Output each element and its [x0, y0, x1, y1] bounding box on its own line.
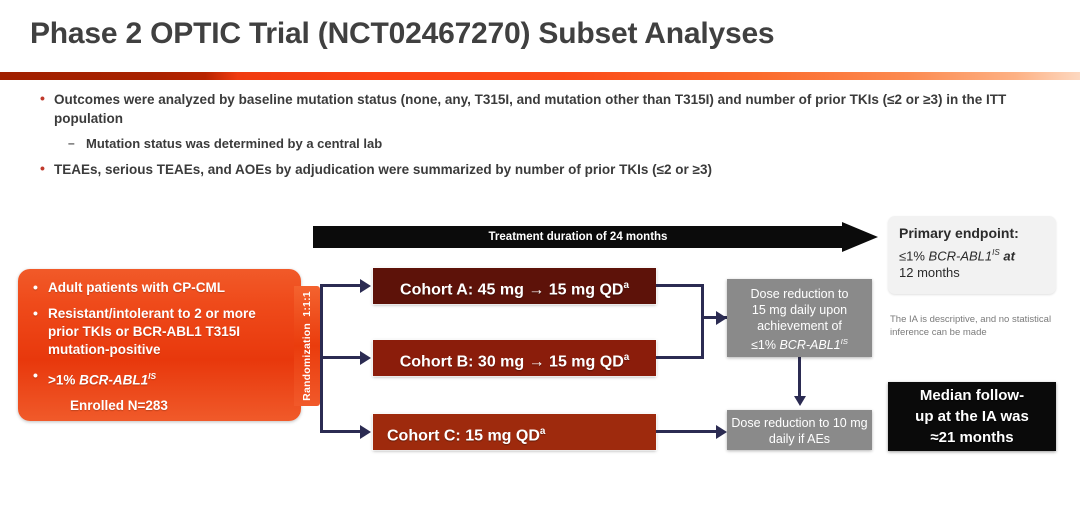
dose-reduction-c-box: Dose reduction to 10 mg daily if AEs [727, 410, 872, 450]
bullet-subitem: Mutation status was determined by a cent… [38, 134, 1038, 153]
connector-to-cohort-b [320, 356, 362, 359]
connector-to-cohort-c [320, 430, 362, 433]
bullet-item: Outcomes were analyzed by baseline mutat… [38, 90, 1038, 128]
biomarker-prefix: >1% [48, 373, 79, 388]
connector-cohort-c-out [656, 430, 720, 433]
dose-reduction-line-4: ≤1% BCR-ABL1IS [727, 334, 872, 353]
randomization-text: Randomization [301, 323, 313, 401]
patient-criterion-biomarker: >1% BCR-ABL1IS [30, 367, 289, 390]
arrowhead-dose-c-icon [716, 425, 727, 439]
connector-cohort-b-out [656, 356, 704, 359]
patient-criterion: Adult patients with CP-CML [30, 279, 289, 297]
dose-threshold-superscript: IS [841, 337, 848, 346]
enrolled-count: Enrolled N=283 [30, 398, 289, 413]
dose-threshold-gene: BCR-ABL1 [779, 338, 840, 352]
connector-dose-ab-to-dose-c [798, 357, 801, 399]
dose-threshold-prefix: ≤1% [751, 338, 779, 352]
cohort-c-box: Cohort C: 15 mg QDa [373, 414, 656, 450]
connector-trunk-vertical [320, 286, 323, 432]
dose-reduction-line-2: 15 mg daily upon [727, 302, 872, 318]
median-followup-line-3: ≈21 months [888, 427, 1056, 448]
arrowhead-cohort-c-icon [360, 425, 371, 439]
dose-reduction-ab-box: Dose reduction to 15 mg daily upon achie… [727, 279, 872, 357]
endpoint-superscript: IS [992, 248, 1000, 257]
arrowhead-cohort-a-icon [360, 279, 371, 293]
page-title: Phase 2 OPTIC Trial (NCT02467270) Subset… [30, 17, 774, 51]
endpoint-timepoint: 12 months [899, 265, 960, 280]
cohort-a-box: Cohort A: 45 mg → 15 mg QDa [373, 268, 656, 304]
primary-endpoint-body: ≤1% BCR-ABL1IS at 12 months [899, 244, 1045, 281]
arrowhead-dose-vertical-icon [794, 396, 806, 406]
arrowhead-cohort-b-icon [360, 351, 371, 365]
cohort-a-label: Cohort A: 45 mg → 15 mg QD [400, 281, 623, 298]
randomization-tab: Randomization 1:1:1 [294, 286, 320, 406]
dose-reduction-line-3: achievement of [727, 318, 872, 334]
connector-ab-merge-vertical [701, 284, 704, 359]
cohort-b-superscript: a [624, 352, 630, 363]
median-followup-line-1: Median follow- [888, 385, 1056, 406]
randomization-ratio: 1:1:1 [301, 291, 313, 317]
dose-reduction-line-1: Dose reduction to [727, 286, 872, 302]
arrowhead-dose-ab-icon [716, 311, 727, 325]
slide-canvas: Phase 2 OPTIC Trial (NCT02467270) Subset… [0, 0, 1080, 506]
patient-population-box: Adult patients with CP-CML Resistant/int… [18, 269, 301, 421]
bullet-list: Outcomes were analyzed by baseline mutat… [38, 90, 1038, 185]
endpoint-at: at [1000, 248, 1015, 263]
primary-endpoint-panel: Primary endpoint: ≤1% BCR-ABL1IS at 12 m… [888, 216, 1056, 294]
connector-cohort-a-out [656, 284, 704, 287]
ia-descriptive-note: The IA is descriptive, and no statistica… [890, 313, 1068, 339]
primary-endpoint-title: Primary endpoint: [899, 225, 1045, 241]
duration-arrow-head-icon [842, 222, 878, 252]
duration-arrow-label: Treatment duration of 24 months [313, 226, 843, 248]
bullet-item: TEAEs, serious TEAEs, and AOEs by adjudi… [38, 160, 1038, 179]
endpoint-prefix: ≤1% [899, 248, 929, 263]
cohort-c-label: Cohort C: 15 mg QD [387, 427, 540, 444]
biomarker-superscript: IS [148, 371, 156, 381]
median-followup-box: Median follow- up at the IA was ≈21 mont… [888, 382, 1056, 451]
cohort-a-superscript: a [623, 280, 629, 291]
biomarker-gene: BCR-ABL1 [79, 373, 148, 388]
median-followup-line-2: up at the IA was [888, 406, 1056, 427]
patient-criterion: Resistant/intolerant to 2 or more prior … [30, 305, 289, 359]
connector-to-cohort-a [320, 284, 362, 287]
cohort-b-box: Cohort B: 30 mg → 15 mg QDa [373, 340, 656, 376]
treatment-duration-arrow: Treatment duration of 24 months [313, 222, 878, 252]
endpoint-gene: BCR-ABL1 [929, 248, 993, 263]
randomization-label: Randomization 1:1:1 [301, 291, 313, 401]
title-accent-rule [0, 72, 1080, 80]
cohort-b-label: Cohort B: 30 mg → 15 mg QD [400, 353, 624, 370]
cohort-c-superscript: a [540, 426, 546, 437]
